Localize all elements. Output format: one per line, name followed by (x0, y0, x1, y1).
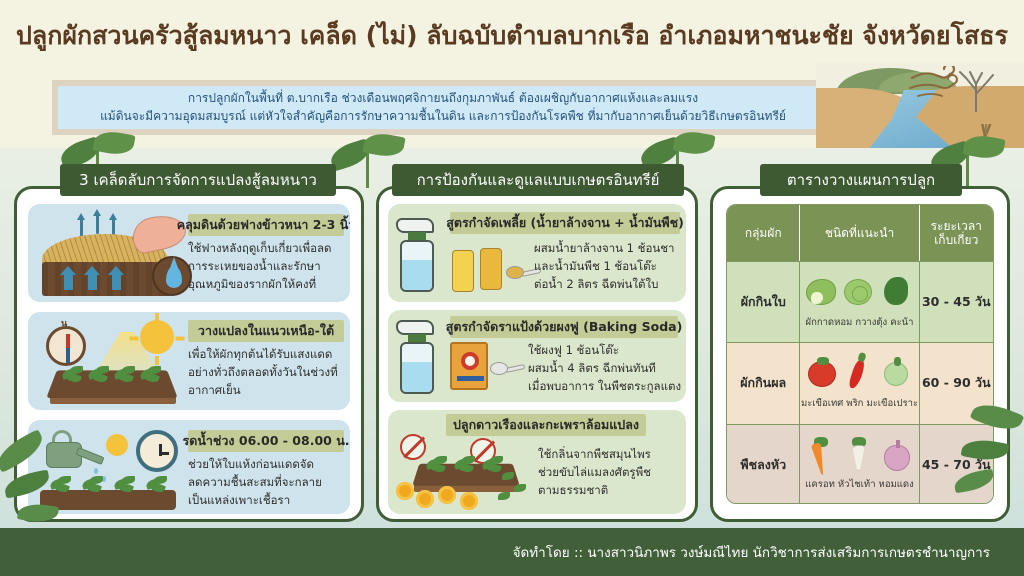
table-cell-group: ผักกินผล (727, 343, 800, 423)
tip-card-watering-time-body: ช่วยให้ใบแห้งก่อนแดดจัด ลดความชื้นสะสมที… (188, 456, 348, 509)
eggplant-icon (884, 362, 908, 386)
table-header-variety: ชนิดที่แนะนำ (800, 205, 919, 261)
recipe-card-aphid-heading: สูตรกำจัดเพลี้ย (น้ำยาล้างจาน + น้ำมันพื… (450, 212, 680, 234)
marigold-flower-icon (438, 486, 456, 504)
planting-schedule-table: กลุ่มผัก ชนิดที่แนะนำ ระยะเวลา เก็บเกี่ย… (726, 204, 994, 504)
basil-leaf-icon (514, 484, 526, 492)
tip-card-bed-orientation-heading: วางแปลงในแนวเหนือ-ใต้ (188, 320, 344, 342)
cabbage-icon (844, 279, 872, 305)
compass-sun-bed-icon: น (34, 316, 184, 408)
marigold-flower-icon (416, 490, 434, 508)
table-cell-group: ผักกินใบ (727, 262, 800, 342)
table-cell-variety-caption: มะเขือเทศ พริก มะเขือเปราะ (801, 396, 918, 411)
tip-card-mulch-body: ใช้ฟางหลังฤดูเก็บเกี่ยวเพื่อลด การระเหยข… (188, 240, 348, 293)
lettuce-icon (806, 279, 836, 305)
tomato-icon (808, 361, 836, 387)
table-header-row: กลุ่มผัก ชนิดที่แนะนำ ระยะเวลา เก็บเกี่ย… (727, 205, 993, 261)
table-row[interactable]: พืชลงหัว แครอท หัวไชเท้า หอมแดง 45 - 70 … (727, 424, 993, 504)
veg-icon-strip (804, 275, 916, 311)
baking-soda-box-icon (450, 342, 488, 390)
veg-icon-strip (804, 356, 916, 392)
panel3-title: ตารางวางแผนการปลูก (760, 164, 962, 196)
recipe-card-powdery-mildew-body: ใช้ผงฟู 1 ช้อนโต๊ะ ผสมน้ำ 4 ลิตร ฉีกพ่นท… (528, 342, 684, 395)
tip-card-watering-time[interactable]: รดน้ำช่วง 06.00 - 08.00 น. ช่วยให้ใบแห้ง… (28, 420, 350, 514)
chili-icon (847, 358, 866, 390)
table-cell-variety-caption: แครอท หัวไชเท้า หอมแดง (805, 477, 913, 492)
table-cell-variety: มะเขือเทศ พริก มะเขือเปราะ (800, 343, 919, 423)
vegetable-oil-bottle-icon (480, 248, 502, 290)
marigold-flower-icon (460, 492, 478, 510)
radish-icon (850, 445, 868, 471)
panel2-title: การป้องกันและดูแลแบบเกษตรอินทรีย์ (392, 164, 684, 196)
subtitle-line-2: แม้ดินจะมีความอุดมสมบูรณ์ แต่หัวใจสำคัญค… (100, 108, 786, 125)
basil-leaf-icon (498, 492, 510, 500)
marigold-basil-bed-icon (394, 434, 544, 510)
dish-soap-bottle-icon (452, 250, 474, 292)
recipe-card-companion-planting-body: ใช้กลิ่นจากพืชสมุนไพร ช่วยขับไล่แมลงศัตร… (538, 446, 684, 499)
recipe-card-powdery-mildew[interactable]: สูตรกำจัดราแป้งด้วยผงฟู (Baking Soda) ใช… (388, 310, 686, 402)
bare-tree-icon (954, 64, 998, 112)
spray-bottle-icon (396, 218, 440, 292)
marigold-flower-icon (396, 482, 414, 500)
table-header-group: กลุ่มผัก (727, 205, 800, 261)
no-insect-icon (400, 434, 426, 460)
table-cell-variety: แครอท หัวไชเท้า หอมแดง (800, 425, 919, 504)
recipe-card-aphid[interactable]: สูตรกำจัดเพลี้ย (น้ำยาล้างจาน + น้ำมันพื… (388, 204, 686, 302)
watering-can-clock-icon (34, 424, 184, 512)
header-band: ปลูกผักสวนครัวสู้ลมหนาว เคล็ด (ไม่) ลับฉ… (0, 0, 1024, 148)
table-header-duration: ระยะเวลา เก็บเกี่ยว (920, 205, 993, 261)
tip-card-bed-orientation[interactable]: น วางแปลงในแนวเหนือ-ใต้ เพื่อให้ผักทุกต้… (28, 312, 350, 410)
recipe-card-companion-planting[interactable]: ปลูกดาวเรืองและกะเพราล้อมแปลง ใช้กลิ่นจา… (388, 410, 686, 514)
recipe-card-companion-planting-heading: ปลูกดาวเรืองและกะเพราล้อมแปลง (446, 414, 646, 436)
table-cell-duration: 30 - 45 วัน (920, 262, 993, 342)
table-cell-duration: 45 - 70 วัน (920, 425, 993, 504)
kale-icon (884, 277, 908, 305)
subtitle-box: การปลูกผักในพื้นที่ ต.บากเรือ ช่วงเดือนพ… (58, 86, 828, 129)
tip-card-mulch[interactable]: คลุมดินด้วยฟางข้าวหนา 2-3 นิ้ว ใช้ฟางหลั… (28, 204, 350, 302)
infographic-poster: ปลูกผักสวนครัวสู้ลมหนาว เคล็ด (ไม่) ลับฉ… (0, 0, 1024, 576)
tip-card-watering-time-heading: รดน้ำช่วง 06.00 - 08.00 น. (188, 430, 344, 452)
footer-credit: จัดทำโดย :: นางสาวนิภาพร วงษ์มณีไทย นักว… (513, 541, 990, 563)
straw-mulch-icon (36, 210, 186, 296)
footer-bar: จัดทำโดย :: นางสาวนิภาพร วงษ์มณีไทย นักว… (0, 528, 1024, 576)
subtitle-frame: การปลูกผักในพื้นที่ ต.บากเรือ ช่วงเดือนพ… (52, 80, 834, 135)
recipe-card-powdery-mildew-heading: สูตรกำจัดราแป้งด้วยผงฟู (Baking Soda) (450, 316, 678, 338)
table-cell-duration: 60 - 90 วัน (920, 343, 993, 423)
panel1-title: 3 เคล็ดลับการจัดการแปลงสู้ลมหนาว (60, 164, 336, 196)
carrot-icon (808, 442, 828, 476)
spoon-icon (490, 362, 524, 376)
table-row[interactable]: ผักกินใบ ผักกาดหอม กวางตุ้ง คะน้า 30 - 4… (727, 261, 993, 342)
tip-card-mulch-heading: คลุมดินด้วยฟางข้าวหนา 2-3 นิ้ว (188, 214, 344, 236)
onion-icon (884, 445, 910, 471)
table-row[interactable]: ผักกินผล มะเขือเทศ พริก มะเขือเปราะ 60 -… (727, 342, 993, 423)
table-cell-variety-caption: ผักกาดหอม กวางตุ้ง คะน้า (806, 315, 914, 330)
page-title: ปลูกผักสวนครัวสู้ลมหนาว เคล็ด (ไม่) ลับฉ… (0, 22, 1024, 51)
tip-card-bed-orientation-body: เพื่อให้ผักทุกต้นได้รับแสงแดด อย่างทั่วถ… (188, 346, 350, 399)
subtitle-line-1: การปลูกผักในพื้นที่ ต.บากเรือ ช่วงเดือนพ… (188, 90, 698, 107)
recipe-card-aphid-body: ผสมน้ำยาล้างจาน 1 ช้อนชา และน้ำมันพืช 1 … (534, 240, 684, 293)
veg-icon-strip (804, 437, 916, 473)
table-cell-variety: ผักกาดหอม กวางตุ้ง คะน้า (800, 262, 919, 342)
table-cell-group: พืชลงหัว (727, 425, 800, 504)
spray-bottle-icon (396, 320, 440, 394)
